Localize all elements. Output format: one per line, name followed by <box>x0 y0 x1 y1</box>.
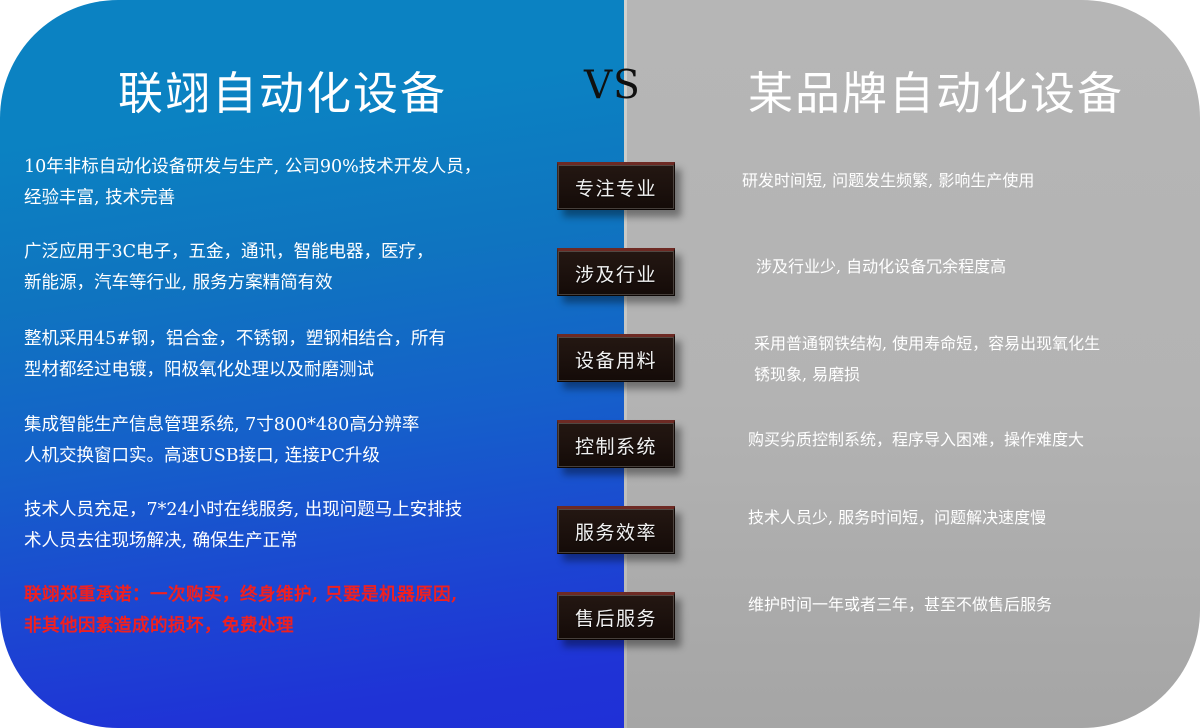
right-feature-text: 技术人员少, 服务时间短，问题解决速度慢 <box>742 502 1192 533</box>
category-chip-2[interactable]: 涉及行业 <box>557 248 675 296</box>
left-feature-text: 10年非标自动化设备研发与生产, 公司90%技术开发人员， 经验丰富, 技术完善 <box>24 152 524 214</box>
category-chip-3[interactable]: 设备用料 <box>557 334 675 382</box>
left-feature-text: 集成智能生产信息管理系统, 7寸800*480高分辨率 人机交换窗口实。高速US… <box>24 410 524 472</box>
category-chip-5[interactable]: 服务效率 <box>557 506 675 554</box>
category-chip-label: 控制系统 <box>575 432 657 459</box>
right-feature-text: 涉及行业少, 自动化设备冗余程度高 <box>742 251 1200 282</box>
left-feature-text: 广泛应用于3C电子，五金，通讯，智能电器，医疗， 新能源，汽车等行业, 服务方案… <box>24 237 524 299</box>
left-feature-text: 整机采用45#钢，铝合金，不锈钢，塑钢相结合，所有 型材都经过电镀，阳极氧化处理… <box>24 324 524 386</box>
left-feature-text: 技术人员充足，7*24小时在线服务, 出现问题马上安排技 术人员去往现场解决, … <box>24 495 524 557</box>
category-chip-label: 服务效率 <box>575 518 657 545</box>
comparison-poster: 联翊自动化设备 VS 某品牌自动化设备 10年非标自动化设备研发与生产, 公司9… <box>0 0 1200 728</box>
category-chip-1[interactable]: 专注专业 <box>557 162 675 210</box>
category-chip-label: 专注专业 <box>575 174 657 201</box>
left-feature-text: 联翊郑重承诺：一次购买，终身维护, 只要是机器原因, 非其他因素造成的损坏，免费… <box>24 580 524 642</box>
vs-label: VS <box>584 63 641 108</box>
right-feature-text: 采用普通钢铁结构, 使用寿命短，容易出现氧化生 锈现象, 易磨损 <box>742 328 1198 390</box>
right-feature-text: 研发时间短, 问题发生频繁, 影响生产使用 <box>742 165 1186 196</box>
category-chip-4[interactable]: 控制系统 <box>557 420 675 468</box>
right-feature-text: 购买劣质控制系统，程序导入困难，操作难度大 <box>742 424 1192 455</box>
category-chip-label: 涉及行业 <box>575 260 657 287</box>
category-chip-6[interactable]: 售后服务 <box>557 592 675 640</box>
right-brand-title: 某品牌自动化设备 <box>748 57 1124 122</box>
category-chip-label: 售后服务 <box>575 604 657 631</box>
category-chip-label: 设备用料 <box>575 346 657 373</box>
right-feature-text: 维护时间一年或者三年，甚至不做售后服务 <box>742 589 1192 620</box>
left-brand-title: 联翊自动化设备 <box>118 57 447 122</box>
